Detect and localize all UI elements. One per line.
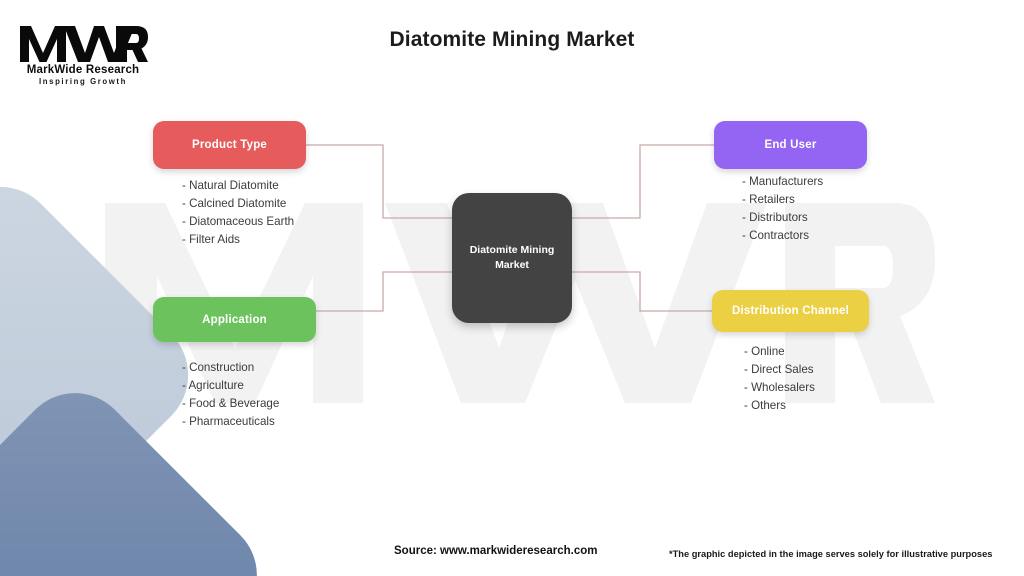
list-item: - Agriculture [182,377,279,395]
list-item: - Contractors [742,227,823,245]
list-item: - Natural Diatomite [182,177,294,195]
list-item: - Filter Aids [182,231,294,249]
branch-items-end-user: - Manufacturers - Retailers - Distributo… [742,173,823,245]
branch-items-application: - Construction - Agriculture - Food & Be… [182,359,279,431]
list-item: - Distributors [742,209,823,227]
connector-end-user [572,145,718,218]
connector-application [316,272,452,311]
connector-distribution-channel [572,272,712,311]
list-item: - Pharmaceuticals [182,413,279,431]
slide-canvas: MarkWide Research Inspiring Growth Diato… [0,0,1024,576]
list-item: - Wholesalers [744,379,815,397]
logo-tagline: Inspiring Growth [18,77,148,86]
logo-company-name: MarkWide Research [18,64,148,76]
center-node[interactable]: Diatomite Mining Market [452,193,572,323]
branch-label-product-type: Product Type [192,139,267,151]
list-item: - Online [744,343,815,361]
list-item: - Retailers [742,191,823,209]
center-node-label: Diatomite Mining Market [452,243,572,273]
list-item: - Diatomaceous Earth [182,213,294,231]
branch-node-product-type[interactable]: Product Type [153,121,306,169]
branch-items-product-type: - Natural Diatomite - Calcined Diatomite… [182,177,294,249]
branch-label-end-user: End User [764,139,816,151]
branch-node-end-user[interactable]: End User [714,121,867,169]
branch-node-distribution-channel[interactable]: Distribution Channel [712,290,869,332]
branch-items-distribution-channel: - Online - Direct Sales - Wholesalers - … [744,343,815,415]
branch-label-distribution-channel: Distribution Channel [732,305,849,317]
list-item: - Manufacturers [742,173,823,191]
list-item: - Food & Beverage [182,395,279,413]
disclaimer-text: *The graphic depicted in the image serve… [669,549,992,559]
source-text: Source: www.markwideresearch.com [394,545,597,557]
list-item: - Construction [182,359,279,377]
list-item: - Direct Sales [744,361,815,379]
branch-node-application[interactable]: Application [153,297,316,342]
page-title: Diatomite Mining Market [0,28,1024,52]
list-item: - Calcined Diatomite [182,195,294,213]
branch-label-application: Application [202,314,267,326]
connector-product-type [306,145,452,218]
list-item: - Others [744,397,815,415]
